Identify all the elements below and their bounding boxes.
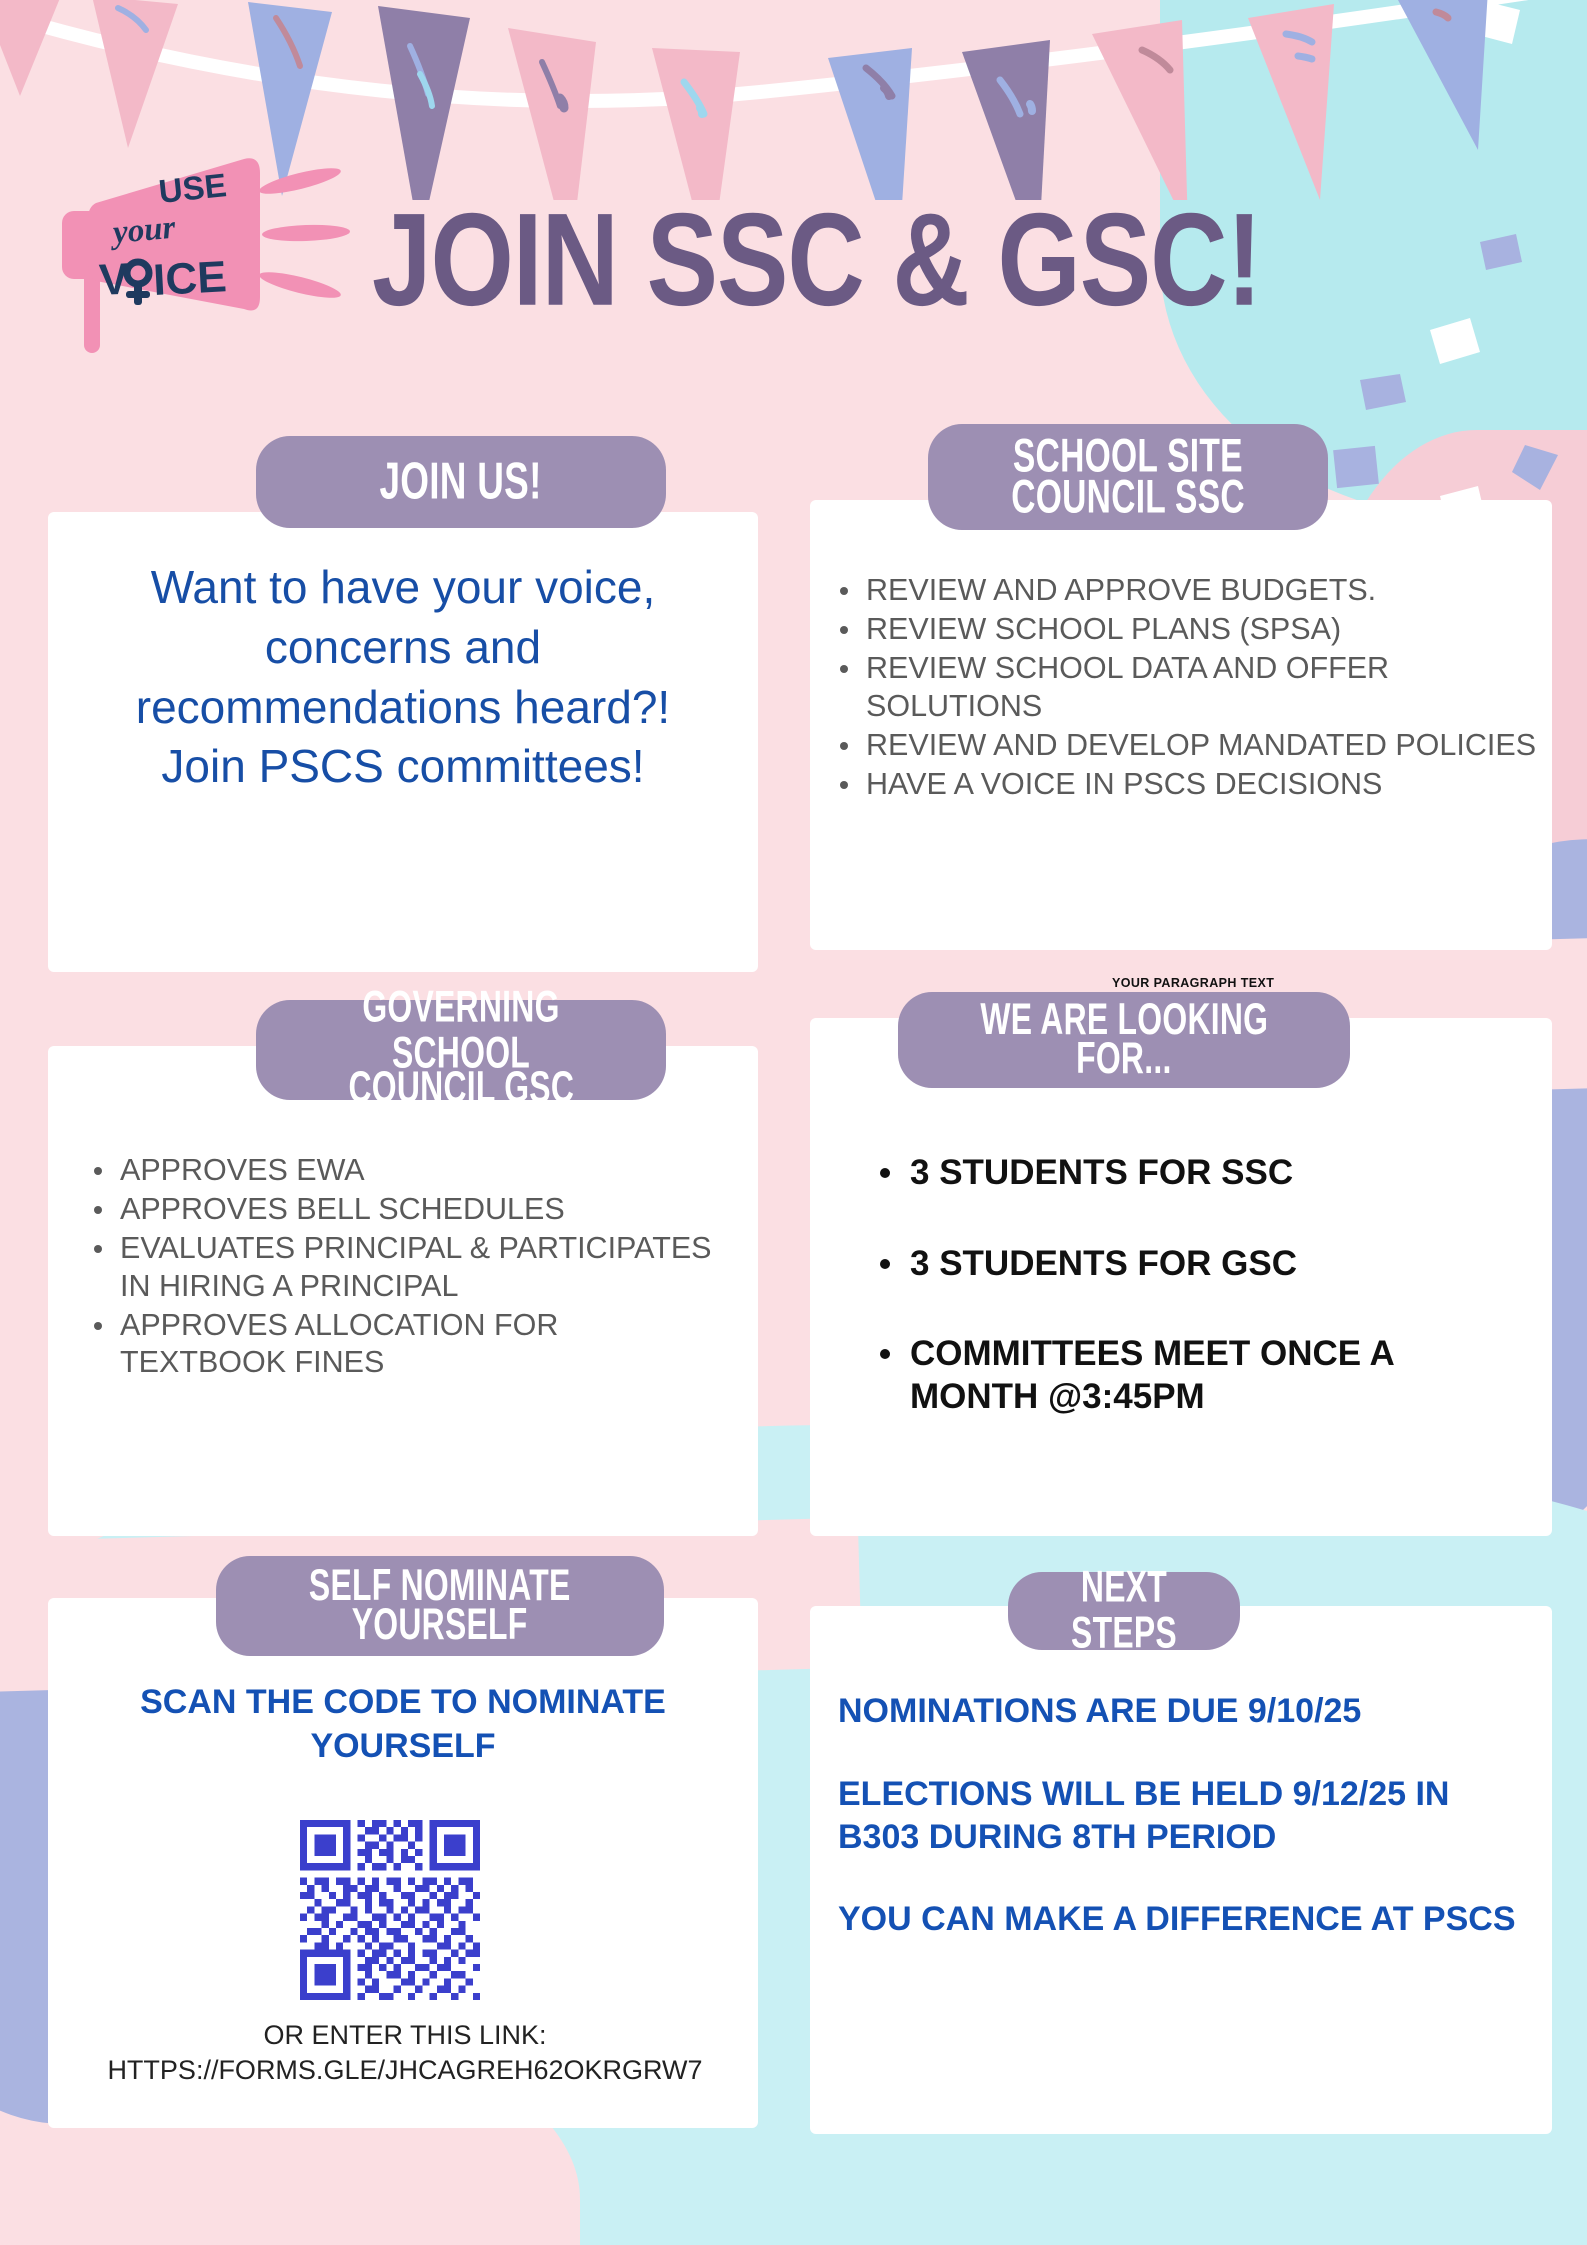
looking-for-badge: WE ARE LOOKING FOR... bbox=[898, 992, 1350, 1088]
poster-header: USE your V ICE JOIN SSC & GSC! bbox=[0, 140, 1587, 380]
gsc-bullet-list: APPROVES EWA APPROVES BELL SCHEDULES EVA… bbox=[82, 1152, 722, 1383]
list-item: REVIEW SCHOOL DATA AND OFFER SOLUTIONS bbox=[828, 650, 1538, 724]
ssc-bullet-list: REVIEW AND APPROVE BUDGETS. REVIEW SCHOO… bbox=[828, 572, 1538, 805]
looking-for-bullet-list: 3 STUDENTS FOR SSC 3 STUDENTS FOR GSC CO… bbox=[866, 1152, 1526, 1467]
list-item: HAVE A VOICE IN PSCS DECISIONS bbox=[828, 766, 1538, 803]
list-item: REVIEW AND APPROVE BUDGETS. bbox=[828, 572, 1538, 609]
next-steps-line-2: ELECTIONS WILL BE HELD 9/12/25 IN B303 D… bbox=[838, 1773, 1528, 1859]
svg-text:your: your bbox=[108, 210, 178, 252]
self-nominate-badge: SELF NOMINATE YOURSELF bbox=[216, 1556, 664, 1656]
gsc-badge: GOVERNING SCHOOL COUNCIL GSC bbox=[256, 1000, 666, 1100]
ssc-badge-line-2: COUNCIL SSC bbox=[1011, 473, 1245, 521]
nomination-form-qr-code[interactable] bbox=[300, 1820, 480, 2000]
use-your-voice-megaphone-icon: USE your V ICE bbox=[48, 145, 358, 375]
list-item: REVIEW AND DEVELOP MANDATED POLICIES bbox=[828, 727, 1538, 764]
list-item: EVALUATES PRINCIPAL & PARTICIPATES IN HI… bbox=[82, 1230, 722, 1304]
ssc-badge: SCHOOL SITE COUNCIL SSC bbox=[928, 424, 1328, 530]
next-steps-badge-label: NEXT STEPS bbox=[1048, 1565, 1199, 1656]
svg-text:USE: USE bbox=[157, 166, 228, 210]
page-title: JOIN SSC & GSC! bbox=[372, 184, 1261, 335]
list-item: APPROVES BELL SCHEDULES bbox=[82, 1191, 722, 1228]
next-steps-text-block: NOMINATIONS ARE DUE 9/10/25 ELECTIONS WI… bbox=[838, 1690, 1528, 1941]
looking-for-badge-line-2: FOR... bbox=[1076, 1037, 1171, 1083]
form-link-block: OR ENTER THIS LINK: HTTPS://FORMS.GLE/JH… bbox=[70, 2018, 740, 2087]
list-item: APPROVES ALLOCATION FOR TEXTBOOK FINES bbox=[82, 1307, 722, 1381]
next-steps-line-3: YOU CAN MAKE A DIFFERENCE AT PSCS bbox=[838, 1898, 1528, 1941]
next-steps-badge: NEXT STEPS bbox=[1008, 1572, 1240, 1650]
gsc-badge-line-2: COUNCIL GSC bbox=[348, 1066, 574, 1112]
join-us-badge-label: JOIN US! bbox=[380, 456, 542, 509]
form-link-label: OR ENTER THIS LINK: bbox=[70, 2018, 740, 2053]
form-link-url[interactable]: HTTPS://FORMS.GLE/JHCAGREH62OKRGRW7 bbox=[70, 2053, 740, 2088]
list-item: COMMITTEES MEET ONCE A MONTH @3:45PM bbox=[866, 1333, 1526, 1418]
join-us-body-text: Want to have your voice, concerns and re… bbox=[90, 558, 716, 797]
self-nominate-badge-line-2: YOURSELF bbox=[352, 1603, 528, 1649]
list-item: 3 STUDENTS FOR GSC bbox=[866, 1243, 1526, 1286]
scan-instruction-heading: SCAN THE CODE TO NOMINATE YOURSELF bbox=[78, 1680, 728, 1768]
svg-text:ICE: ICE bbox=[152, 252, 228, 305]
list-item: REVIEW SCHOOL PLANS (SPSA) bbox=[828, 611, 1538, 648]
next-steps-line-1: NOMINATIONS ARE DUE 9/10/25 bbox=[838, 1690, 1528, 1733]
list-item: APPROVES EWA bbox=[82, 1152, 722, 1189]
list-item: 3 STUDENTS FOR SSC bbox=[866, 1152, 1526, 1195]
join-us-badge: JOIN US! bbox=[256, 436, 666, 528]
paragraph-placeholder-text: YOUR PARAGRAPH TEXT bbox=[1112, 976, 1274, 990]
